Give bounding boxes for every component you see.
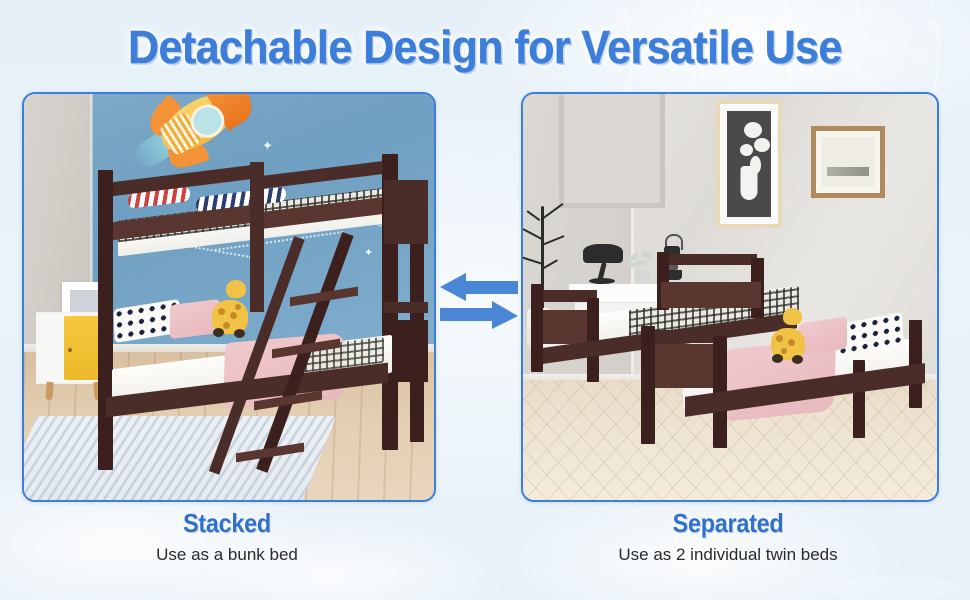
twin-bed-front [641,302,935,466]
giraffe-plush-toy [765,308,811,364]
caption-subtitle: Use as a bunk bed [22,545,432,565]
page-title: Detachable Design for Versatile Use [34,20,936,74]
bunk-bed [84,152,428,476]
desk-lamp-icon [583,244,623,263]
caption-title: Separated [542,508,915,539]
landscape-wall-art [811,126,885,198]
panel-separated[interactable] [521,92,939,502]
mirror-frame [559,94,665,208]
footboard-panel [647,344,723,388]
headboard-top-rail [661,254,757,265]
bed-post [641,326,655,444]
bed-post [531,284,543,372]
panel-stacked[interactable]: ✦ ✧ ✦ ✦ ✧ [22,92,436,502]
caption-title: Stacked [43,508,412,539]
caption-separated: Separated Use as 2 individual twin beds [521,508,935,565]
giraffe-plush-toy [206,280,254,338]
caption-subtitle: Use as 2 individual twin beds [521,545,935,565]
scene-two-twin-beds-room [523,94,937,500]
upper-guardrail [260,160,392,189]
bed-post [98,170,113,470]
bed-ladder [264,234,394,484]
exchange-arrows-icon [440,270,518,332]
scene-bunk-bed-room: ✦ ✧ ✦ ✦ ✧ [24,94,434,500]
caption-stacked: Stacked Use as a bunk bed [22,508,432,565]
infographic-canvas: Detachable Design for Versatile Use ✦ ✧ … [0,0,970,600]
floral-wall-art [716,100,782,228]
